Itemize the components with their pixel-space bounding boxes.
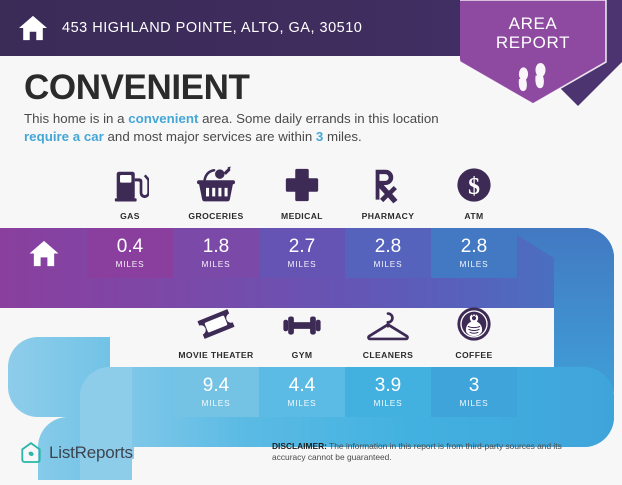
distance-cell: 2.7 MILES (259, 228, 345, 278)
intro-text-2: area. Some daily errands in this locatio… (198, 111, 438, 126)
house-icon (18, 14, 48, 42)
distance-unit: MILES (202, 398, 231, 408)
distance-cell: 1.8 MILES (173, 228, 259, 278)
distance-value: 2.7 (289, 237, 315, 257)
distance-cell: 0.4 MILES (87, 228, 173, 278)
category-cleaners: CLEANERS (345, 303, 431, 360)
category-pharmacy: PHARMACY (345, 164, 431, 221)
category-coffee: COFFEE (431, 303, 517, 360)
badge-text: AREA REPORT (460, 14, 606, 52)
listreports-logo[interactable]: ListReports (20, 441, 133, 465)
distance-value: 9.4 (203, 376, 229, 396)
disclaimer-label: DISCLAIMER: (272, 441, 327, 451)
row2-icon-strip: MOVIE THEATER GYM CLEANER (173, 303, 517, 360)
category-atm: $ ATM (431, 164, 517, 221)
dumbbell-icon (281, 303, 323, 343)
prescription-rx-icon (369, 164, 407, 204)
category-gym: GYM (259, 303, 345, 360)
distance-unit: MILES (116, 259, 145, 269)
page-title: CONVENIENT (24, 68, 249, 108)
intro-text-4: miles. (323, 129, 361, 144)
row1-distance-cells: 0.4 MILES 1.8 MILES 2.7 MILES 2.8 MILES … (87, 228, 517, 278)
intro-highlight-1: convenient (128, 111, 198, 126)
movie-ticket-icon (195, 303, 237, 343)
badge-line-1: AREA (460, 14, 606, 33)
category-label: GAS (120, 211, 140, 221)
distance-value: 0.4 (117, 237, 143, 257)
distance-unit: MILES (460, 259, 489, 269)
distance-cell: 9.4 MILES (173, 367, 259, 417)
category-label: CLEANERS (363, 350, 413, 360)
listreports-tag-icon (20, 441, 42, 465)
distance-unit: MILES (460, 398, 489, 408)
property-address: 453 HIGHLAND POINTE, ALTO, GA, 30510 (62, 20, 362, 36)
distance-unit: MILES (288, 398, 317, 408)
distance-value: 2.8 (375, 237, 401, 257)
category-label: GROCERIES (188, 211, 243, 221)
category-groceries: GROCERIES (173, 164, 259, 221)
intro-paragraph: This home is in a convenient area. Some … (24, 110, 454, 145)
area-report-infographic: 453 HIGHLAND POINTE, ALTO, GA, 30510 ARE… (0, 0, 622, 480)
category-label: MOVIE THEATER (178, 350, 253, 360)
distance-unit: MILES (202, 259, 231, 269)
category-label: COFFEE (455, 350, 492, 360)
row2-distance-cells: 9.4 MILES 4.4 MILES 3.9 MILES 3 MILES (173, 367, 517, 417)
distance-unit: MILES (374, 259, 403, 269)
distance-cell: 3 MILES (431, 367, 517, 417)
logo-wordmark: ListReports (49, 443, 133, 463)
intro-highlight-2: require a car (24, 129, 104, 144)
category-label: GYM (292, 350, 313, 360)
distance-value: 3 (469, 376, 480, 396)
distance-cell: 4.4 MILES (259, 367, 345, 417)
hanger-icon (365, 303, 411, 343)
category-label: PHARMACY (362, 211, 415, 221)
category-label: ATM (464, 211, 483, 221)
home-marker-cell (0, 228, 87, 278)
distance-value: 4.4 (289, 376, 315, 396)
distance-value: 3.9 (375, 376, 401, 396)
distance-unit: MILES (288, 259, 317, 269)
disclaimer-text: DISCLAIMER: The information in this repo… (272, 441, 592, 463)
medical-cross-icon (283, 164, 321, 204)
badge-line-2: REPORT (460, 33, 606, 52)
distance-cell: 2.8 MILES (345, 228, 431, 278)
distance-unit: MILES (374, 398, 403, 408)
gas-pump-icon (111, 164, 149, 204)
distance-cell: 2.8 MILES (431, 228, 517, 278)
category-gas: GAS (87, 164, 173, 221)
category-movie-theater: MOVIE THEATER (173, 303, 259, 360)
row1-icon-strip: GAS GROCERIES (87, 164, 517, 221)
distance-value: 1.8 (203, 237, 229, 257)
grocery-basket-icon (194, 164, 238, 204)
area-report-badge: AREA REPORT (460, 0, 622, 110)
distance-value: 2.8 (461, 237, 487, 257)
starbucks-siren-icon (455, 303, 493, 343)
category-label: MEDICAL (281, 211, 323, 221)
category-medical: MEDICAL (259, 164, 345, 221)
distance-cell: 3.9 MILES (345, 367, 431, 417)
intro-text-1: This home is in a (24, 111, 128, 126)
house-icon (28, 239, 60, 268)
svg-text:$: $ (468, 174, 480, 200)
dollar-coin-icon: $ (455, 164, 493, 204)
intro-text-3: and most major services are within (104, 129, 316, 144)
